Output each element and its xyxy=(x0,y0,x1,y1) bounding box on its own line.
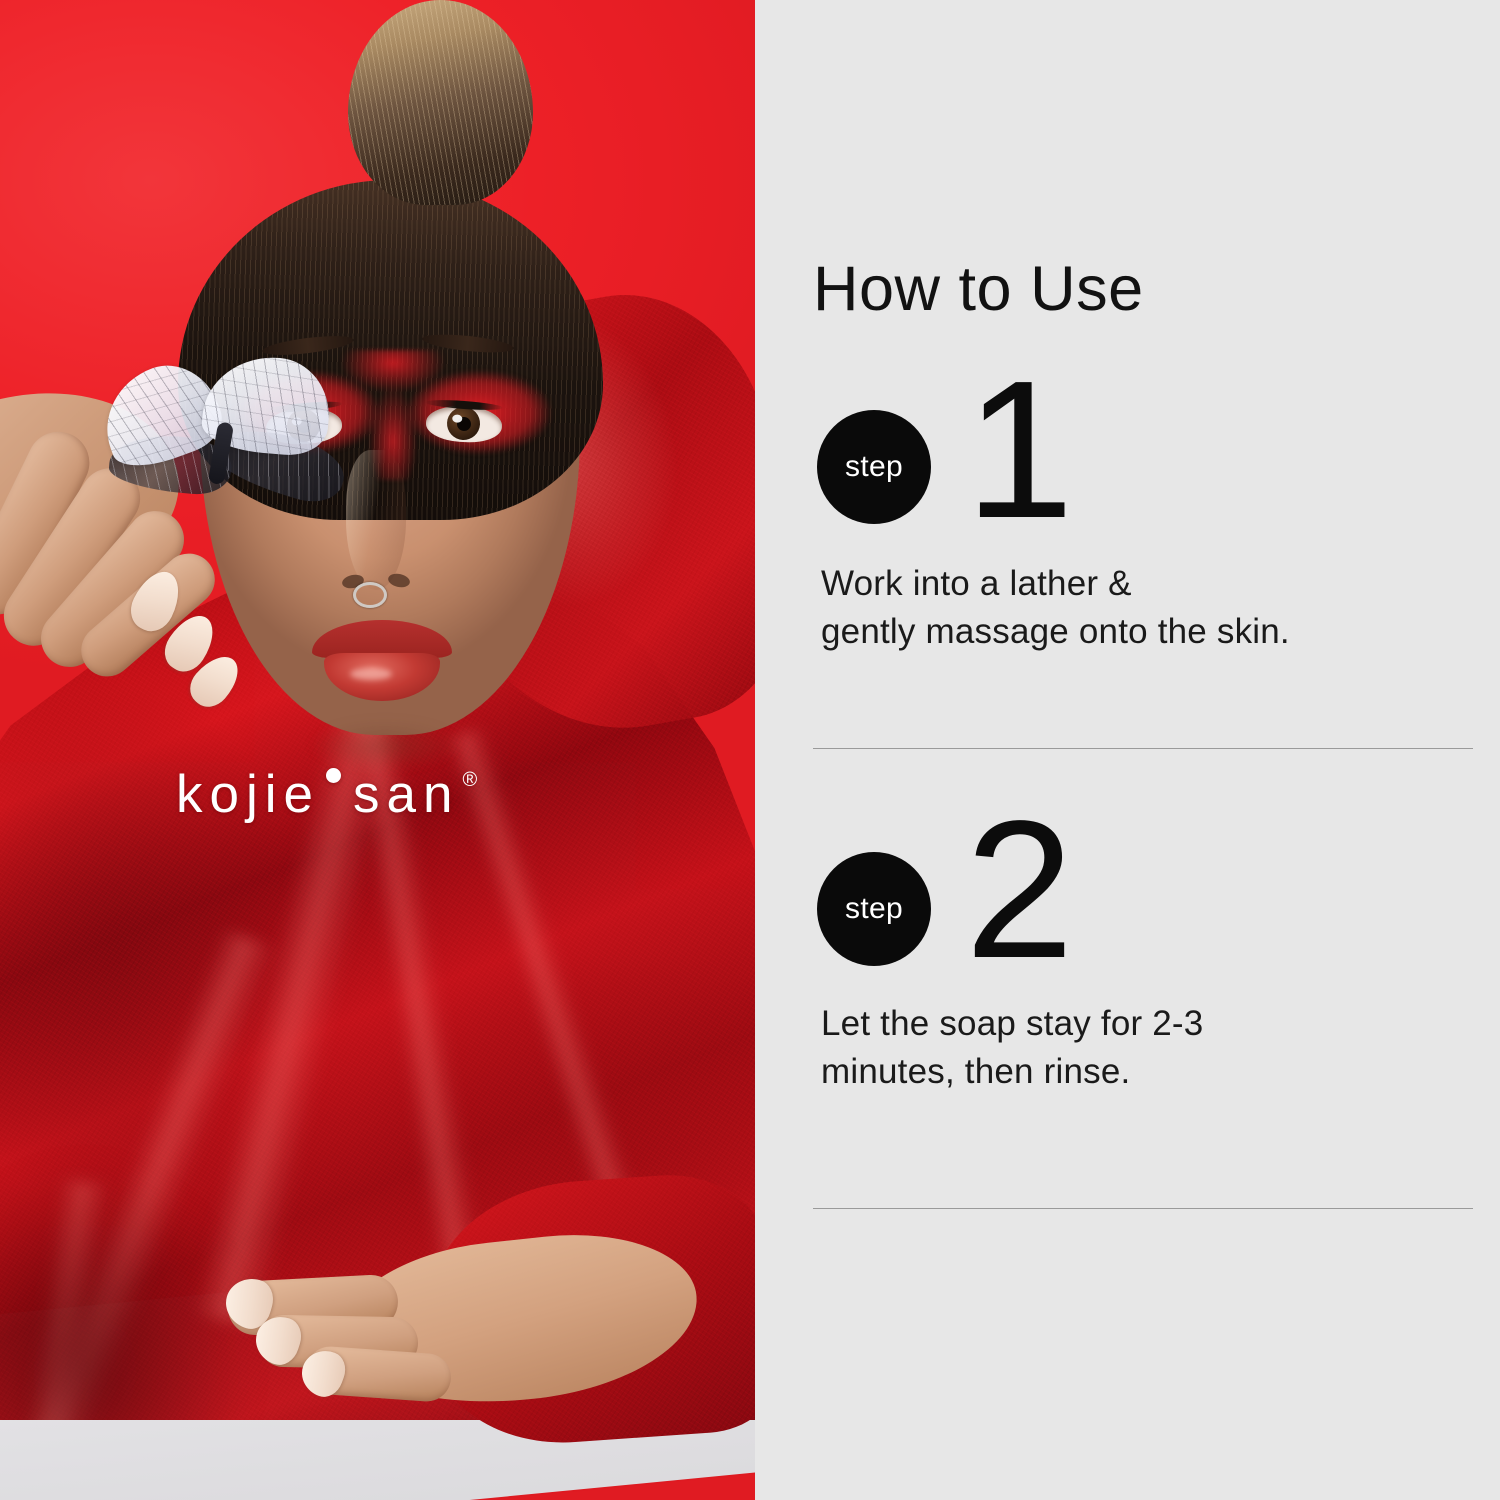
product-how-to-use-card: kojie san ® How to Use step 1 Work into … xyxy=(0,0,1500,1500)
brand-name-first: kojie xyxy=(176,768,320,821)
step-number: 2 xyxy=(965,792,1072,988)
step-badge-label: step xyxy=(845,894,903,924)
brand-name-second: san xyxy=(353,768,459,821)
section-divider xyxy=(813,1208,1473,1209)
step-description: Let the soap stay for 2-3 minutes, then … xyxy=(821,1000,1203,1097)
step-badge: step xyxy=(817,852,931,966)
step-item: step 2 Let the soap stay for 2-3 minutes… xyxy=(813,600,1473,785)
butterfly-icon xyxy=(95,351,356,528)
step-badge-label: step xyxy=(845,452,903,482)
nose xyxy=(346,450,406,590)
registered-trademark-icon: ® xyxy=(462,770,477,790)
step-badge: step xyxy=(817,410,931,524)
step-header: step 1 xyxy=(813,156,1473,341)
eye-glint-right xyxy=(452,414,462,423)
chin-shadow xyxy=(310,720,460,770)
brand-logo: kojie san ® xyxy=(176,768,477,821)
step-number: 1 xyxy=(965,352,1072,548)
lip-highlight xyxy=(350,668,392,680)
step-item: step 1 Work into a lather & gently massa… xyxy=(813,156,1473,341)
lips xyxy=(312,620,452,704)
dot-separator-icon xyxy=(326,768,341,783)
iris-right xyxy=(446,406,481,441)
nose-ring xyxy=(353,582,387,608)
how-to-use-panel: How to Use step 1 Work into a lather & g… xyxy=(755,0,1500,1500)
product-hero-photo: kojie san ® xyxy=(0,0,755,1500)
step-header: step 2 xyxy=(813,600,1473,785)
model-hand-lower xyxy=(188,1240,708,1440)
